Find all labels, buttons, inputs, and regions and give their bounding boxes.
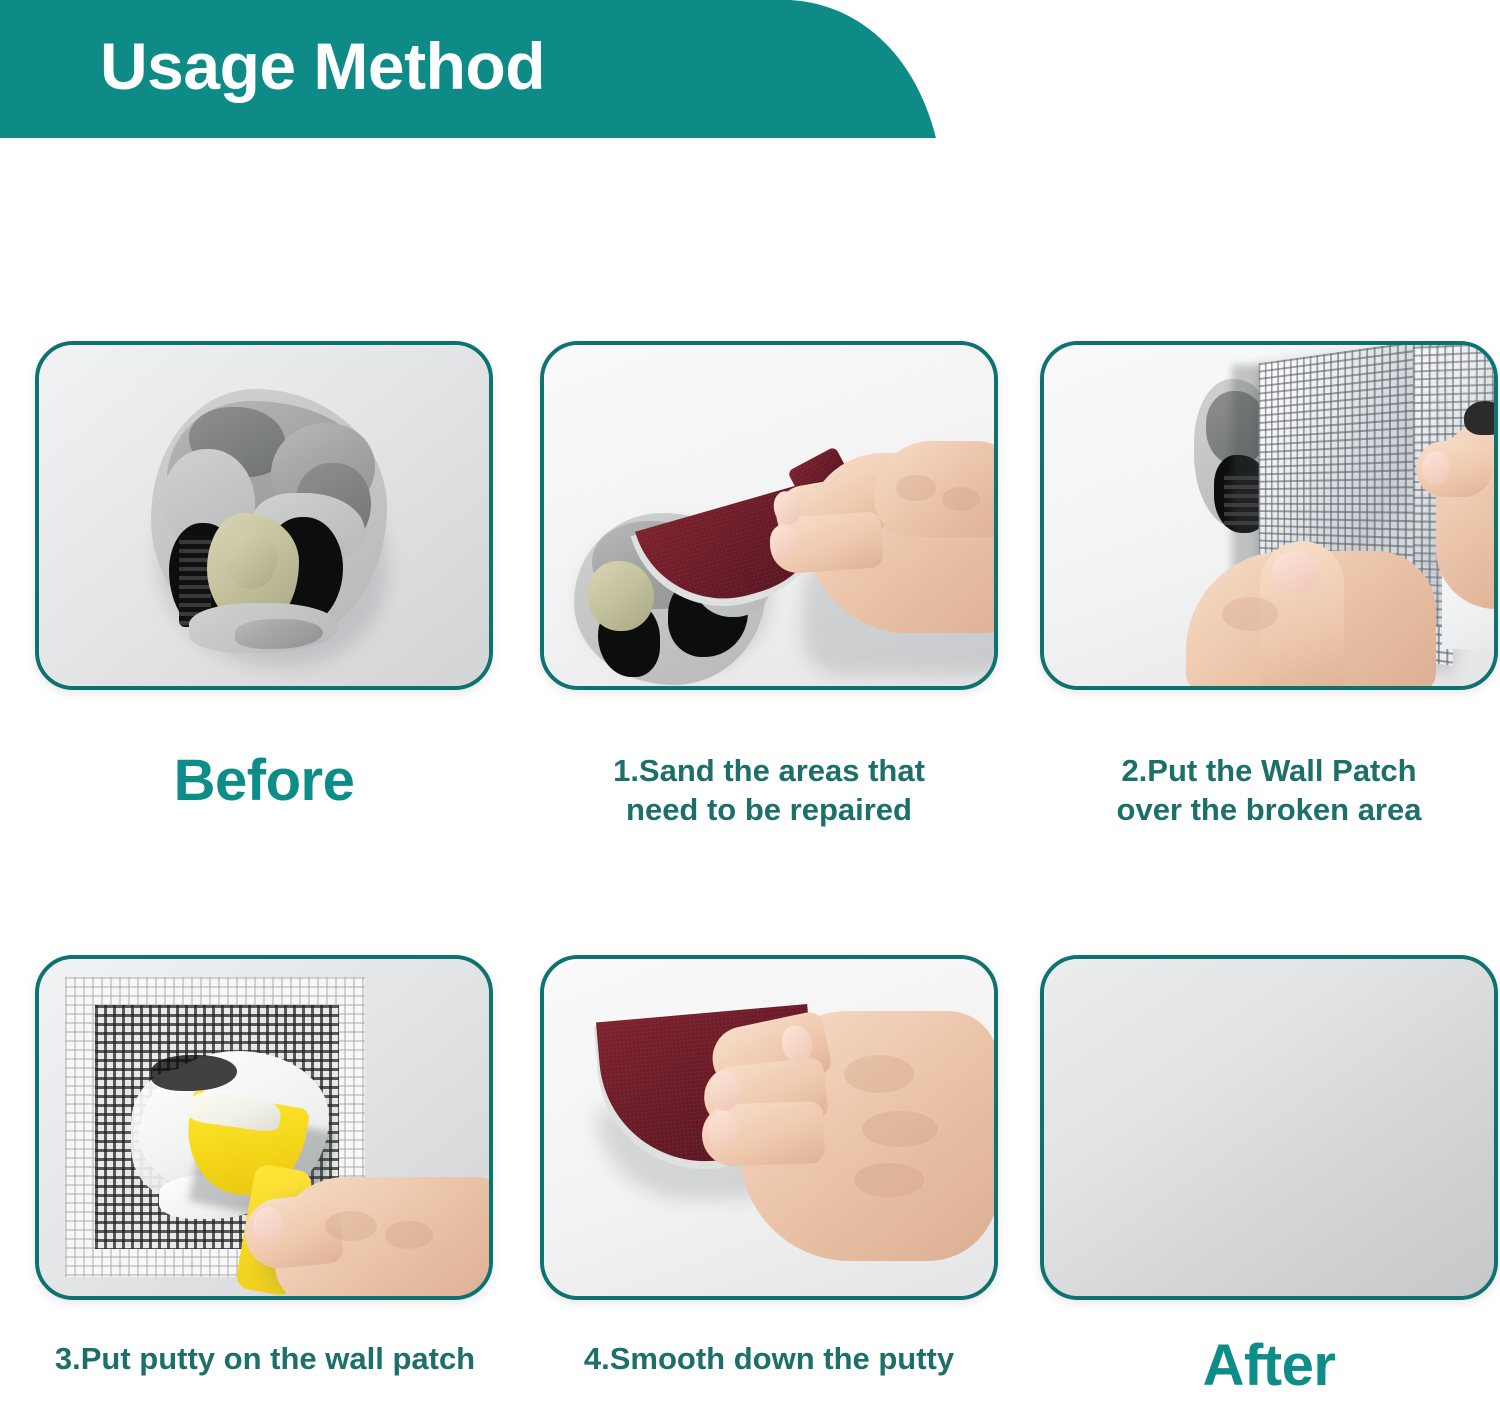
caption-step-3: 3.Put putty on the wall patch xyxy=(20,1340,510,1379)
photo-frame xyxy=(1040,955,1498,1300)
step-panel-1[interactable] xyxy=(540,341,998,690)
photo-frame xyxy=(1040,341,1498,690)
step-panel-4[interactable] xyxy=(540,955,998,1300)
scene-applying-mesh-patch xyxy=(1044,345,1494,686)
scene-smoothing-putty xyxy=(544,959,994,1296)
caption-step-1: 1.Sand the areas that need to be repaire… xyxy=(540,752,998,830)
scene-repaired-wall xyxy=(1044,959,1494,1296)
caption-before: Before xyxy=(35,745,493,818)
scene-damaged-wall-hole xyxy=(39,345,489,686)
scene-hand-sanding-hole xyxy=(544,345,994,686)
photo-frame xyxy=(35,341,493,690)
step-panel-3[interactable] xyxy=(35,955,493,1300)
step-panel-after[interactable] xyxy=(1040,955,1498,1300)
caption-step-2: 2.Put the Wall Patch over the broken are… xyxy=(1040,752,1498,830)
caption-after: After xyxy=(1040,1330,1498,1403)
photo-frame xyxy=(540,341,998,690)
photo-frame xyxy=(35,955,493,1300)
step-panel-before[interactable] xyxy=(35,341,493,690)
infographic-canvas: Usage Method xyxy=(0,0,1500,1417)
photo-frame xyxy=(540,955,998,1300)
steps-grid: Before xyxy=(0,0,1500,1417)
caption-step-4: 4.Smooth down the putty xyxy=(540,1340,998,1379)
step-panel-2[interactable] xyxy=(1040,341,1498,690)
scene-putty-on-patch xyxy=(39,959,489,1296)
